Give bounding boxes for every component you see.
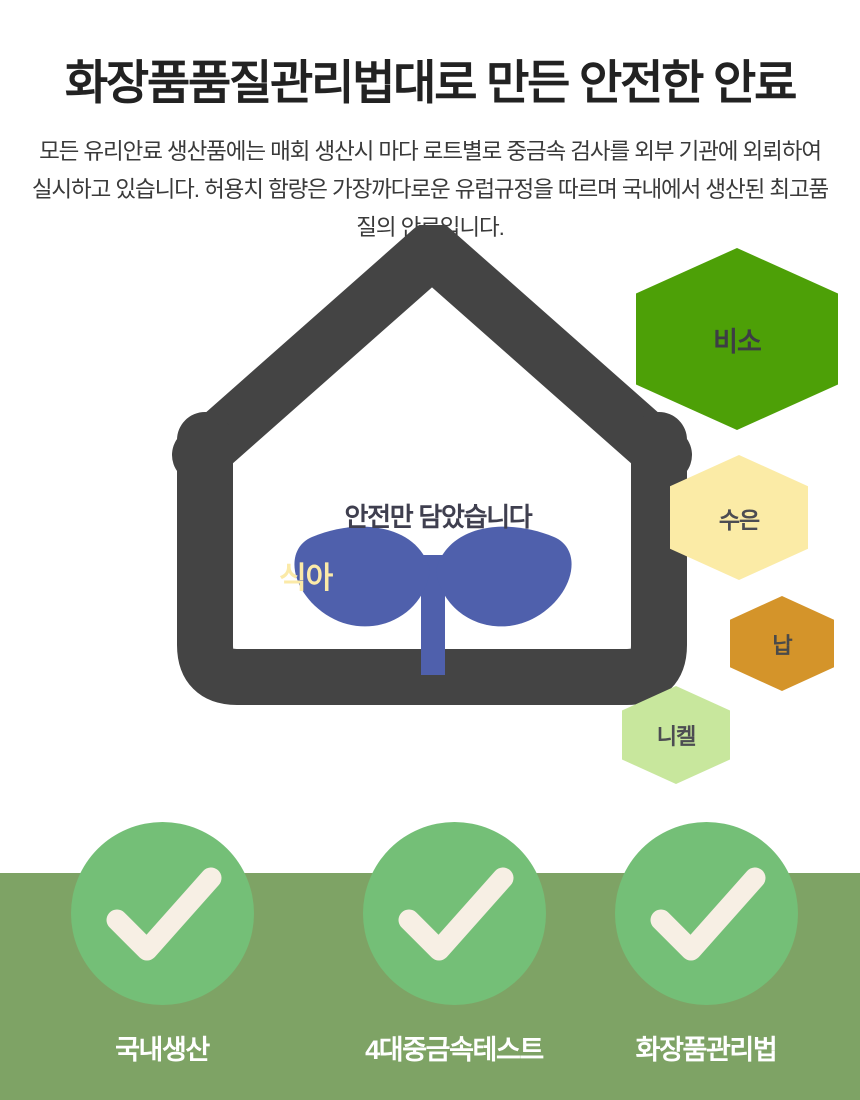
certification-badge-cosmetics-law [615, 822, 798, 1005]
check-icon [71, 822, 254, 1005]
infographic-page: 화장품품질관리법대로 만든 안전한 안료 모든 유리안료 생산품에는 매회 생산… [0, 0, 860, 1100]
watermark-text: 식아 [279, 553, 332, 597]
page-title: 화장품품질관리법대로 만든 안전한 안료 [0, 44, 860, 113]
check-icon [363, 822, 546, 1005]
certification-label-domestic-production: 국내생산 [12, 1028, 312, 1067]
hexagon-nickel-label: 니켈 [657, 719, 695, 751]
hexagon-arsenic-label: 비소 [713, 320, 761, 359]
hexagon-mercury-label: 수은 [719, 501, 759, 535]
check-icon [615, 822, 798, 1005]
hexagon-lead-label: 납 [772, 628, 791, 660]
certification-badge-heavy-metal-test [363, 822, 546, 1005]
certification-label-cosmetics-law: 화장품관리법 [556, 1028, 856, 1067]
house-caption: 안전만 담았습니다 [286, 497, 590, 534]
certification-badge-domestic-production [71, 822, 254, 1005]
hero-illustration: 식아 안전만 담았습니다 비소 수은 납 니켈 [0, 225, 860, 825]
